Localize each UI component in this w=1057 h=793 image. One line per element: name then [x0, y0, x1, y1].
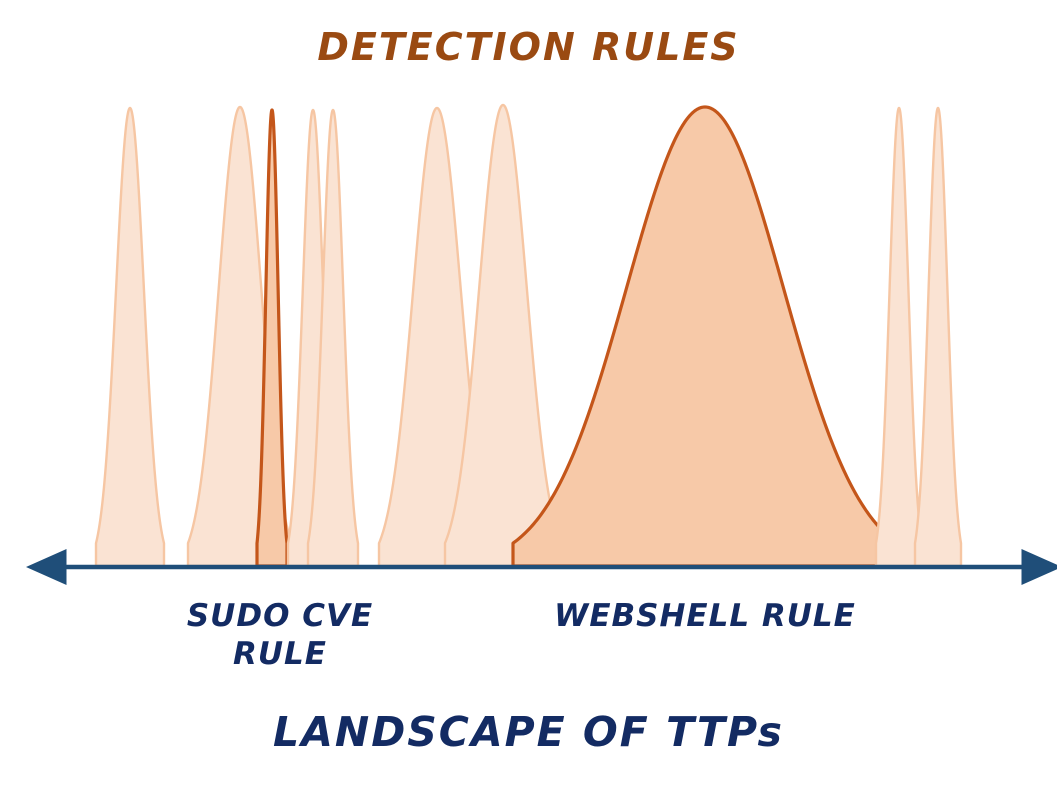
curve-webshell-rule: [513, 107, 897, 566]
label-webshell-rule: WEBSHELL RULE: [500, 598, 910, 636]
axis-caption: LANDSCAPE OF TTPs: [0, 707, 1057, 757]
label-sudo-cve-rule: SUDO CVE RULE: [130, 598, 430, 674]
distribution-curves: [96, 105, 961, 566]
curve-background-1: [96, 108, 164, 566]
curve-background-7: [876, 108, 922, 566]
diagram-canvas: DETECTION RULES SUDO CVE RULE WEBSHELL R…: [0, 0, 1057, 793]
page-title: DETECTION RULES: [0, 24, 1057, 70]
curve-background-8: [915, 108, 961, 566]
distribution-plot: [0, 0, 1057, 793]
